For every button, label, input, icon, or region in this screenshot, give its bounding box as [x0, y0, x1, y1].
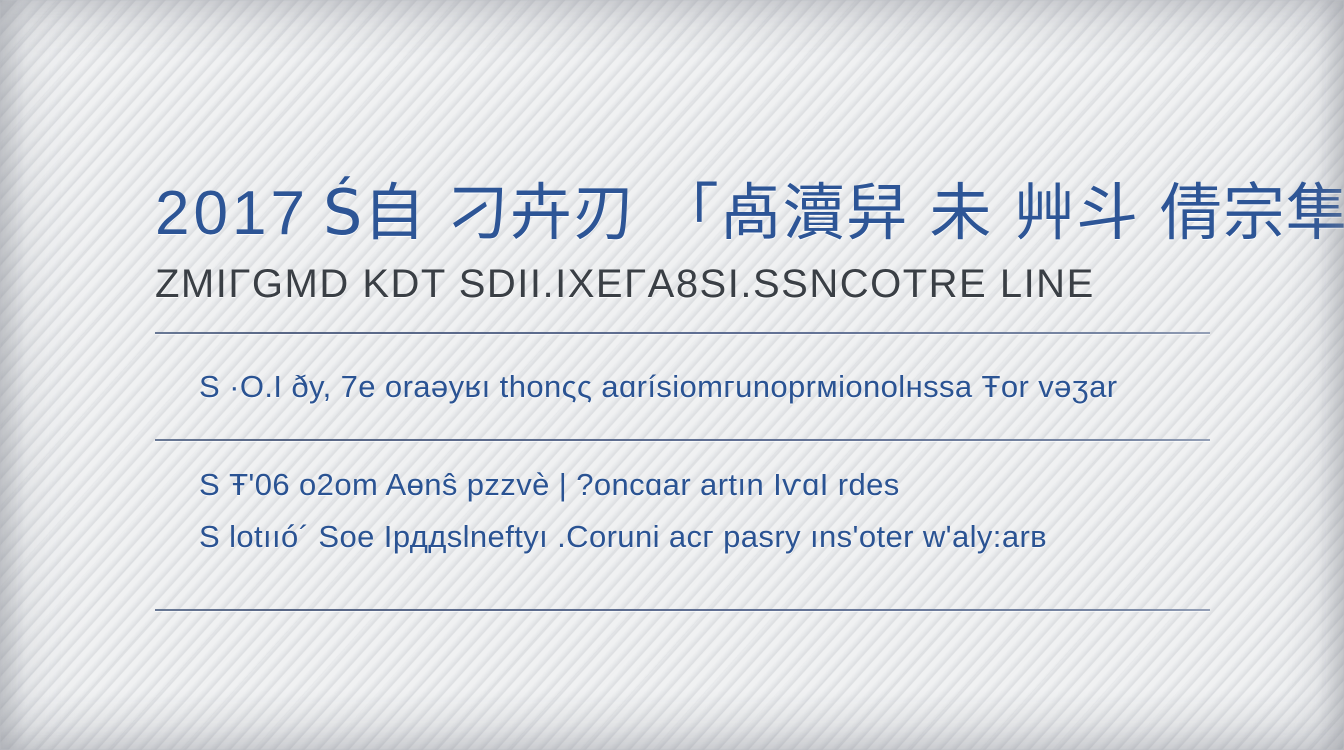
body-line-3: S lotııó´ Soe Ірддѕlneftyı .Сοruni acг p…	[199, 517, 1210, 609]
divider-bottom	[155, 609, 1210, 611]
divider-middle	[155, 439, 1210, 441]
document-canvas: 2017Ś自 刁卉刃 「卨瀆舁 未 艸斗 倩宗隼 ZMIΓGMD KDT SD…	[0, 0, 1344, 750]
page-title: 2017Ś自 刁卉刃 「卨瀆舁 未 艸斗 倩宗隼	[155, 175, 1210, 252]
title-glyphs: Ś自 刁卉刃 「卨瀆舁 未 艸斗 倩宗隼	[323, 176, 1344, 249]
body-line-1: S ·O.I ðy, 7e oraəyʁı thonςς aɑrísiomгun…	[155, 334, 1210, 439]
body-line-2: S Ŧ'06 o2om Aɵnŝ pzzvè | ?onсɑar artın І…	[199, 465, 1210, 517]
document-content: 2017Ś自 刁卉刃 「卨瀆舁 未 艸斗 倩宗隼 ZMIΓGMD KDT SD…	[155, 175, 1210, 611]
body-line-group: S Ŧ'06 o2om Aɵnŝ pzzvè | ?onсɑar artın І…	[155, 441, 1210, 609]
page-subtitle: ZMIΓGMD KDT SDII.IXEΓA8SI.SSNCOTRE LINE	[155, 258, 1210, 310]
divider-top	[155, 332, 1210, 334]
title-year: 2017	[155, 179, 309, 248]
